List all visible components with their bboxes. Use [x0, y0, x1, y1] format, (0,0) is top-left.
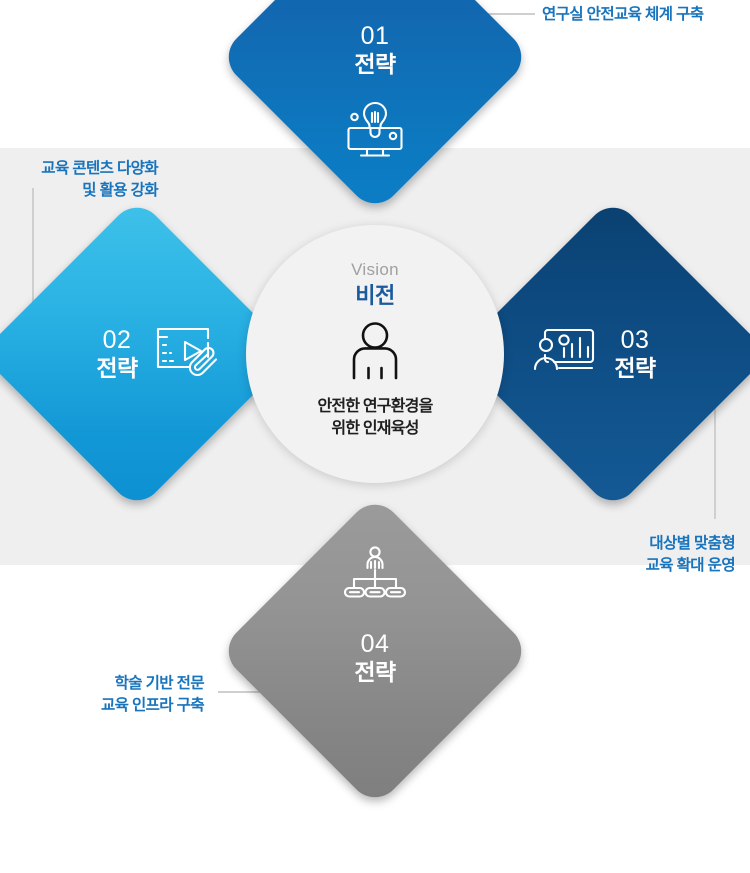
strategy-card-01-content: 01 전략 [264, 0, 486, 168]
callout-strategy-02-line1: 교육 콘텐츠 다양화 [0, 158, 158, 180]
strategy-01-number: 01 [361, 22, 390, 51]
callout-strategy-03-line1: 대상별 맞춤형 [590, 533, 735, 555]
vision-label-ko: 비전 [355, 283, 394, 309]
vision-statement-line2: 위한 인재육성 [317, 418, 432, 440]
strategy-04-word: 전략 [354, 659, 395, 687]
callout-strategy-04-line1: 학술 기반 전문 [56, 673, 204, 695]
vision-statement-line1: 안전한 연구환경을 [317, 396, 432, 418]
strategy-card-02-content: 02 전략 [26, 243, 248, 465]
callout-strategy-02: 교육 콘텐츠 다양화 및 활용 강화 [0, 158, 158, 203]
video-attachment-icon [154, 323, 220, 386]
callout-strategy-01-line1: 연구실 안전교육 체계 구축 [542, 4, 703, 26]
callout-strategy-03-line2: 교육 확대 운영 [590, 555, 735, 577]
lightbulb-monitor-icon [342, 99, 408, 166]
person-icon [347, 321, 403, 388]
strategy-card-04-content: 04 전략 [264, 540, 486, 762]
org-chart-icon [343, 545, 407, 608]
infographic-canvas: 연구실 안전교육 체계 구축 교육 콘텐츠 다양화 및 활용 강화 대상별 맞춤… [0, 0, 750, 720]
strategy-card-04[interactable]: 04 전략 [218, 494, 532, 808]
strategy-01-word: 전략 [354, 51, 395, 79]
vision-label-en: Vision [351, 261, 399, 280]
callout-strategy-03: 대상별 맞춤형 교육 확대 운영 [590, 533, 735, 578]
callout-strategy-01: 연구실 안전교육 체계 구축 [542, 4, 703, 26]
callout-strategy-04-line2: 교육 인프라 구축 [56, 695, 204, 717]
callout-strategy-02-line2: 및 활용 강화 [0, 180, 158, 202]
vision-circle: Vision 비전 안전한 연구환경을 위한 인재육성 [246, 225, 504, 483]
strategy-03-word: 전략 [614, 355, 655, 383]
vision-statement: 안전한 연구환경을 위한 인재육성 [317, 396, 432, 439]
strategy-03-number: 03 [621, 326, 650, 355]
strategy-02-word: 전략 [96, 355, 137, 383]
strategy-02-number: 02 [103, 326, 132, 355]
strategy-card-03-content: 03 전략 [502, 243, 724, 465]
strategy-04-number: 04 [361, 630, 390, 659]
callout-strategy-04: 학술 기반 전문 교육 인프라 구축 [56, 673, 204, 718]
person-chart-board-icon [532, 324, 598, 385]
